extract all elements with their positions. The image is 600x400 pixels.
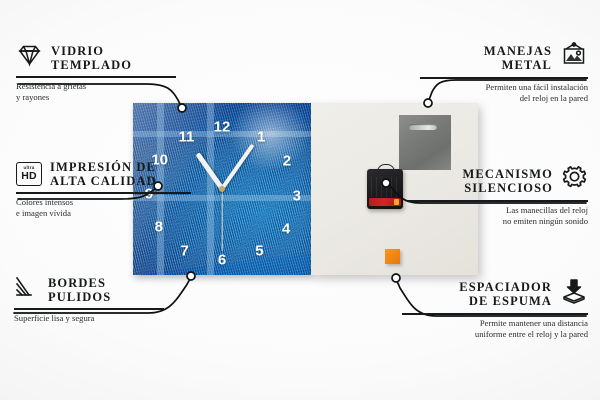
clock-numeral-5: 5: [255, 242, 263, 259]
feature-title-line1: BORDES: [48, 276, 111, 290]
clock-numeral-6: 6: [218, 251, 226, 268]
clock-second-hand: [221, 189, 222, 251]
gear-icon: [561, 165, 588, 196]
feature-title-line1: IMPRESIÓN DE: [50, 160, 157, 174]
mechanism-hanger-loop: [377, 164, 395, 173]
feature-title-line2: DE ESPUMA: [459, 294, 552, 308]
wire-endpoint-espaciador: [392, 274, 400, 282]
feature-title-line1: VIDRIO: [51, 44, 132, 58]
feature-divider: [408, 200, 588, 202]
feature-desc-line2: no emiten ningún sonido: [408, 216, 588, 228]
feature-divider: [16, 76, 176, 78]
ultra-hd-icon: ultra HD: [16, 162, 42, 186]
clock-numeral-8: 8: [155, 218, 163, 235]
metal-hanger-plate: [399, 115, 451, 170]
feature-desc-line1: Permite mantener una distancia: [402, 318, 588, 330]
feature-mecanismo-silencioso: MECANISMO SILENCIOSO Las manecillas del …: [408, 165, 588, 228]
clock-numeral-1: 1: [257, 128, 265, 145]
feature-title-line1: MECANISMO: [463, 167, 553, 181]
clock-mechanism: [367, 169, 403, 209]
feature-espaciador-de-espuma: ESPACIADOR DE ESPUMA Permite mantener un…: [402, 278, 588, 341]
feature-title-group: MECANISMO SILENCIOSO: [463, 167, 553, 195]
clock-numeral-11: 11: [178, 128, 194, 145]
feature-desc-line1: Resistencia a grietas: [16, 81, 176, 93]
feature-title-line2: TEMPLADO: [51, 58, 132, 72]
feature-title-line2: ALTA CALIDAD: [50, 174, 157, 188]
clock-numeral-7: 7: [180, 242, 188, 259]
feature-desc-line1: Superficie lisa y segura: [14, 313, 164, 325]
battery-label: [369, 198, 401, 206]
feature-title-group: VIDRIO TEMPLADO: [51, 44, 132, 72]
feature-vidrio-templado: VIDRIO TEMPLADO Resistencia a grietas y …: [16, 43, 176, 104]
feature-title-line2: SILENCIOSO: [463, 181, 553, 195]
feature-title-group: MANEJAS METAL: [484, 44, 552, 72]
foam-spacer-square: [385, 249, 400, 264]
clock-center-pin: [219, 186, 225, 192]
feature-title-line1: MANEJAS: [484, 44, 552, 58]
feature-desc-line2: y rayones: [16, 92, 176, 104]
clock-numeral-12: 12: [214, 119, 231, 136]
clock-numeral-3: 3: [293, 187, 301, 204]
feature-divider: [14, 308, 164, 310]
clock-numeral-4: 4: [282, 220, 290, 237]
ultra-hd-icon-main: HD: [21, 171, 37, 182]
feature-desc-line1: Las manecillas del reloj: [408, 205, 588, 217]
feature-desc-line2: e imagen vívida: [16, 208, 191, 220]
mechanism-detail: [371, 177, 399, 197]
hanging-frame-icon: [560, 42, 588, 73]
feature-manejas-metal: MANEJAS METAL Permiten una fácil instala…: [420, 42, 588, 105]
feature-desc-line2: uniforme entre el reloj y la pared: [402, 329, 588, 341]
foam-spacer-icon: [560, 278, 588, 309]
feature-divider: [420, 77, 588, 79]
feature-title-group: ESPACIADOR DE ESPUMA: [459, 280, 552, 308]
clock-numeral-2: 2: [283, 153, 291, 170]
feature-impresion-alta-calidad: ultra HD IMPRESIÓN DE ALTA CALIDAD Color…: [16, 160, 191, 220]
feature-title-group: IMPRESIÓN DE ALTA CALIDAD: [50, 160, 157, 188]
infographic-canvas: 12 1 2 3 4 5 6 7 8 9 10 11: [0, 0, 600, 400]
feature-divider: [402, 313, 588, 315]
feature-divider: [16, 192, 191, 194]
hanger-keyhole-slot: [409, 124, 437, 130]
feature-title-line1: ESPACIADOR: [459, 280, 552, 294]
feature-desc-line1: Permiten una fácil instalación: [420, 82, 588, 94]
feature-bordes-pulidos: BORDES PULIDOS Superficie lisa y segura: [14, 275, 164, 324]
feature-desc-line1: Colores intensos: [16, 197, 191, 209]
feature-title-line2: PULIDOS: [48, 290, 111, 304]
diamond-icon: [16, 43, 43, 72]
feature-desc-line2: del reloj en la pared: [420, 93, 588, 105]
feature-title-group: BORDES PULIDOS: [48, 276, 111, 304]
feature-title-line2: METAL: [484, 58, 552, 72]
polished-edges-icon: [14, 275, 40, 304]
